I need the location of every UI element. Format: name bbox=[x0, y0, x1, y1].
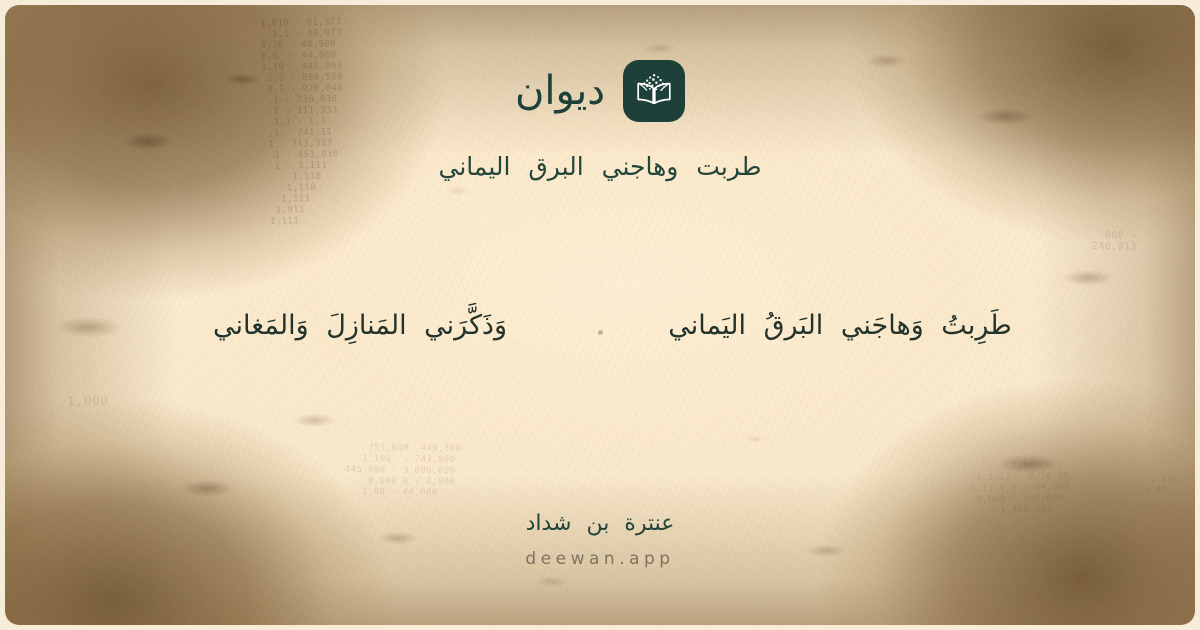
poet-name: عنترة بن شداد bbox=[526, 510, 675, 539]
poster-content: ديوان طربت وهاجني البرق اليماني طَرِبتُ … bbox=[5, 5, 1195, 625]
poem-title: طربت وهاجني البرق اليماني bbox=[438, 148, 761, 186]
poster-canvas: 81,373 - 1,010 40,073 - 1,1 48,900 - 0,3… bbox=[5, 5, 1195, 625]
verse-separator-dot bbox=[570, 316, 630, 335]
open-book-sparkle-icon bbox=[634, 73, 674, 109]
poster-frame: 81,373 - 1,010 40,073 - 1,1 48,900 - 0,3… bbox=[0, 0, 1200, 630]
verse-first-hemistich: طَرِبتُ وَهاجَني البَرقُ اليَماني bbox=[630, 304, 1050, 347]
verse-second-hemistich: وَذَكَّرَني المَنازِلَ وَالمَغاني bbox=[150, 304, 570, 347]
verse-line: طَرِبتُ وَهاجَني البَرقُ اليَماني وَذَكَ… bbox=[5, 304, 1195, 347]
poster-footer: عنترة بن شداد deewan.app bbox=[5, 510, 1195, 569]
app-name: ديوان bbox=[515, 71, 605, 111]
brand-lockup: ديوان bbox=[515, 60, 685, 122]
site-url: deewan.app bbox=[525, 549, 674, 569]
app-logo-badge bbox=[623, 60, 685, 122]
